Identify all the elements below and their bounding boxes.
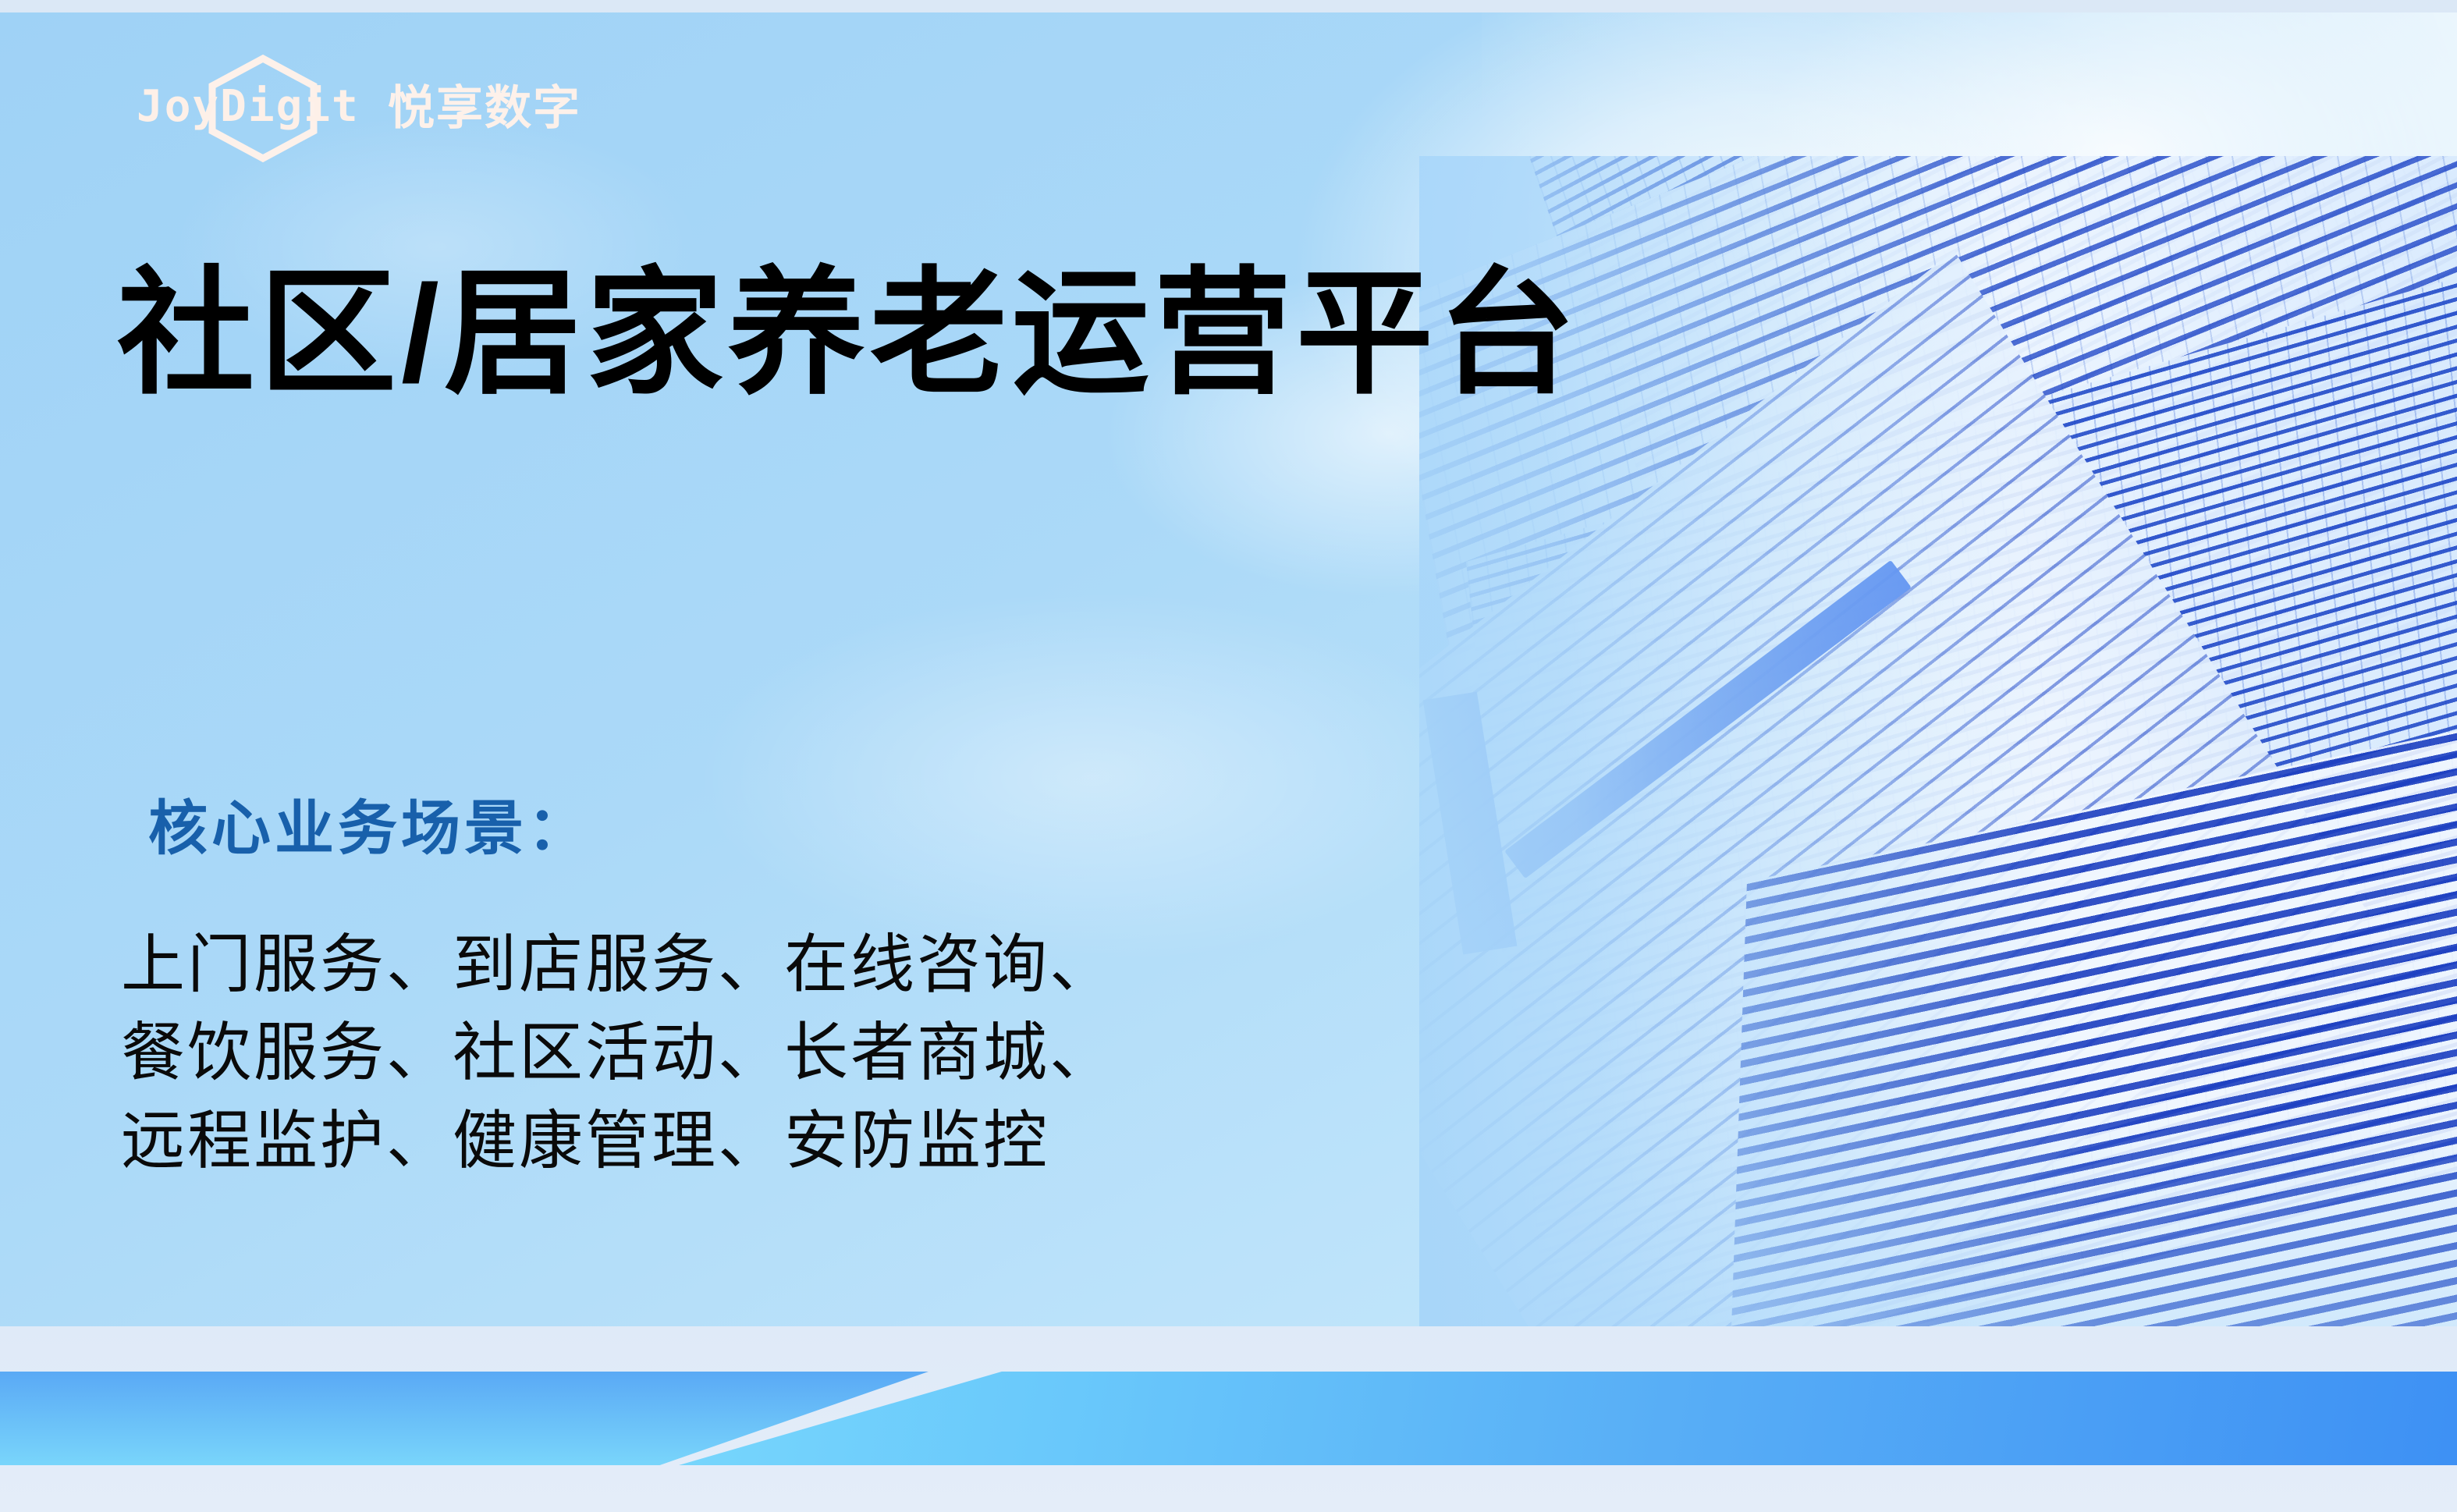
logo-mark: JoyDigit — [137, 61, 371, 156]
logo-wordmark: JoyDigit — [137, 81, 360, 132]
slide-canvas: JoyDigit 悦享数字 社区/居家养老运营平台 核心业务场景： 上门服务、到… — [0, 0, 2457, 1512]
scenario-list: 上门服务、到店服务、在线咨询、 餐饮服务、社区活动、长者商城、 远程监护、健康管… — [121, 921, 1116, 1185]
logo-chinese-name: 悦享数字 — [388, 85, 581, 132]
scenario-line: 上门服务、到店服务、在线咨询、 — [121, 921, 1116, 1009]
bottom-decorative-band — [0, 1326, 2457, 1512]
page-title: 社区/居家养老运营平台 — [117, 257, 1580, 411]
section-heading: 核心业务场景： — [148, 780, 591, 866]
brand-logo: JoyDigit 悦享数字 — [137, 61, 581, 156]
scenario-line: 远程监护、健康管理、安防监控 — [121, 1097, 1116, 1185]
scenario-line: 餐饮服务、社区活动、长者商城、 — [121, 1009, 1116, 1097]
top-edge-strip — [0, 0, 2457, 12]
